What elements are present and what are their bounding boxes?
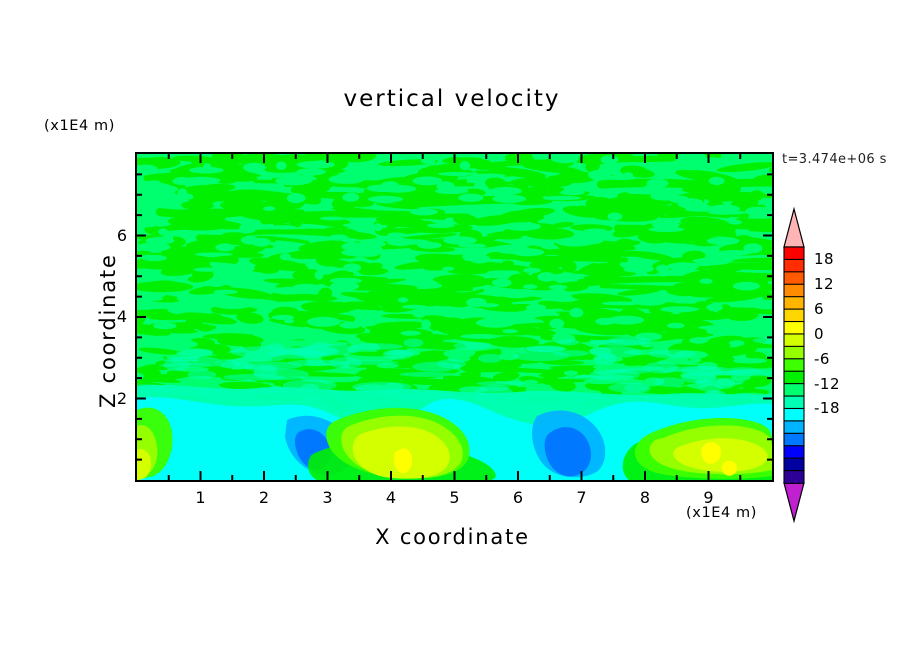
colorbar-label-0: 0 xyxy=(814,325,874,343)
x-tick-label-7: 7 xyxy=(562,488,602,507)
x-tick-label-9: 9 xyxy=(689,488,729,507)
colorbar-label-12: 12 xyxy=(814,275,874,293)
colorbar xyxy=(778,205,814,525)
page-title: vertical velocity xyxy=(0,86,904,112)
colorbar-svg xyxy=(778,205,814,525)
vertical-velocity-field xyxy=(137,154,772,480)
colorbar-label--6: -6 xyxy=(814,350,874,368)
x-tick-label-1: 1 xyxy=(181,488,221,507)
x-tick-label-6: 6 xyxy=(498,488,538,507)
figure-canvas: vertical velocity (x1E4 m) (x1E4 m) t=3.… xyxy=(0,0,904,654)
x-tick-label-2: 2 xyxy=(244,488,284,507)
colorbar-label-18: 18 xyxy=(814,250,874,268)
x-axis-title: X coordinate xyxy=(135,525,770,549)
y-tick-label-6: 6 xyxy=(93,226,127,245)
x-tick-label-3: 3 xyxy=(308,488,348,507)
x-tick-label-4: 4 xyxy=(371,488,411,507)
y-tick-label-4: 4 xyxy=(93,307,127,326)
x-tick-label-8: 8 xyxy=(625,488,665,507)
colorbar-label--18: -18 xyxy=(814,399,874,417)
x-tick-label-5: 5 xyxy=(435,488,475,507)
colorbar-label-6: 6 xyxy=(814,300,874,318)
timestamp-label: t=3.474e+06 s xyxy=(782,152,887,167)
contour-plot-area xyxy=(135,152,774,482)
y-axis-title: Z coordinate xyxy=(96,253,120,408)
y-axis-units-label: (x1E4 m) xyxy=(44,118,115,134)
y-tick-label-2: 2 xyxy=(93,389,127,408)
colorbar-label--12: -12 xyxy=(814,375,874,393)
x-axis-units-label: (x1E4 m) xyxy=(686,505,757,521)
